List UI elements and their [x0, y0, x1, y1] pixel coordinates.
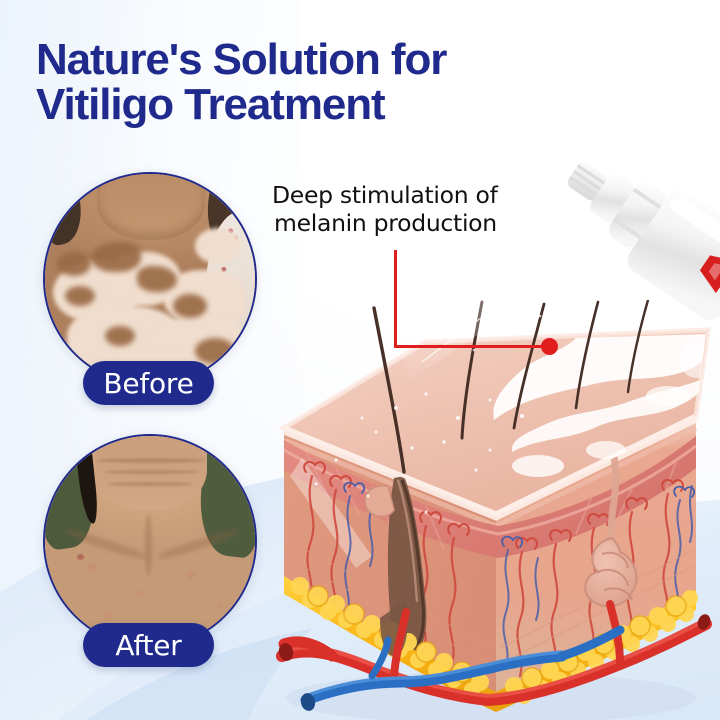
pigmented-blotch	[57, 252, 91, 276]
headline-line-2: Vitiligo Treatment	[36, 83, 556, 128]
before-photo-image	[45, 174, 255, 384]
after-badge: After	[83, 623, 214, 667]
after-photo-image	[45, 436, 255, 646]
before-badge: Before	[83, 361, 214, 405]
annotation-line-1: Deep stimulation of	[272, 182, 538, 210]
pigmented-blotch	[91, 242, 141, 272]
poster-canvas: Before After Nature's Solution for Vitil…	[0, 0, 720, 720]
leader-endpoint-dot	[541, 338, 558, 355]
after-neck-crease	[97, 458, 205, 463]
after-badge-label: After	[115, 629, 181, 662]
pigmented-blotch	[105, 326, 135, 346]
leader-line-vertical	[394, 250, 397, 348]
pigmented-blotch	[195, 338, 235, 364]
spray-bottle-svg	[520, 108, 720, 358]
annotation-callout: Deep stimulation of melanin production	[272, 182, 538, 237]
pigmented-blotch	[137, 266, 177, 292]
after-photo[interactable]	[43, 434, 257, 648]
depigmented-patch	[195, 228, 241, 264]
before-neck	[97, 172, 205, 240]
after-skin-mole	[77, 554, 84, 560]
after-neck-crease	[107, 482, 193, 486]
annotation-line-2: melanin production	[274, 210, 538, 238]
spray-bottle	[520, 108, 720, 358]
before-photo[interactable]	[43, 172, 257, 386]
page-title: Nature's Solution for Vitiligo Treatment	[36, 38, 556, 128]
pigmented-blotch	[65, 286, 95, 306]
before-badge-label: Before	[103, 367, 193, 400]
headline-line-1: Nature's Solution for	[36, 35, 446, 84]
leader-line-horizontal	[394, 345, 550, 348]
after-neck-crease	[103, 470, 199, 474]
pigmented-blotch	[173, 294, 207, 318]
